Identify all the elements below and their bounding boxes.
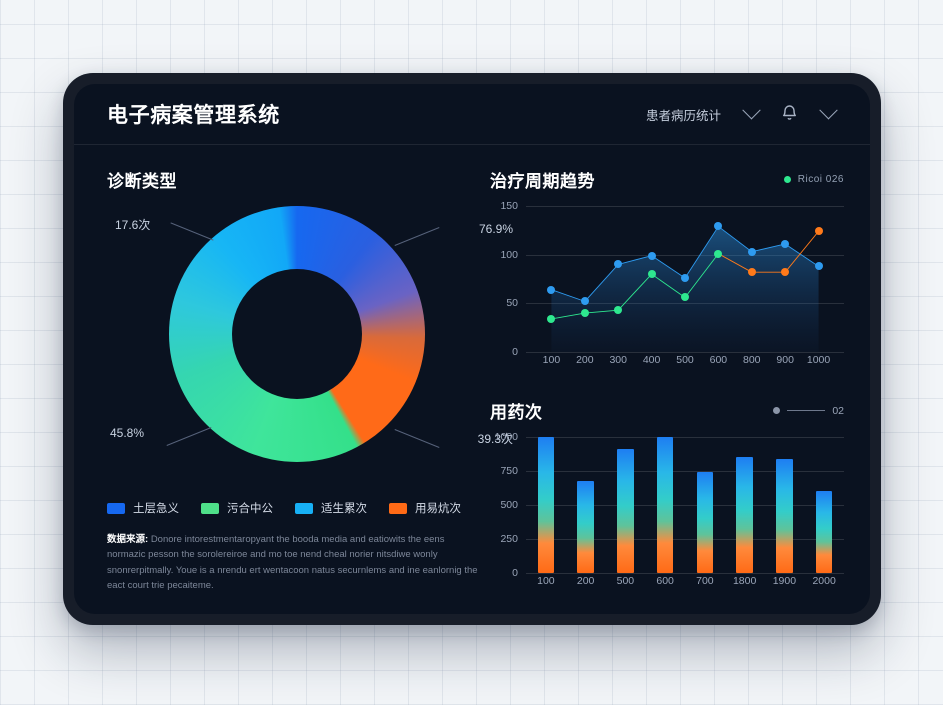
- y-tick-label: 50: [506, 297, 518, 309]
- diagnosis-panel-title: 诊断类型: [107, 167, 478, 192]
- line-data-point-blue[interactable]: [547, 286, 555, 294]
- legend-item-1[interactable]: 污合中公: [201, 500, 273, 516]
- bar-chart-x-axis: 100200500600700180019002000: [526, 575, 844, 595]
- legend-item-label: 污合中公: [227, 500, 273, 516]
- x-tick-label: 500: [617, 575, 635, 587]
- bar[interactable]: [776, 459, 793, 573]
- legend-item-label: 土层急义: [133, 500, 179, 516]
- line-panel-title: 治疗周期趋势: [490, 167, 784, 192]
- line-chart-y-axis: 050100150: [490, 206, 524, 352]
- slider-value: 02: [832, 405, 844, 417]
- legend-dot-icon: [784, 176, 791, 183]
- right-column: 治疗周期趋势 Ricoi 026 050100150 1002003004005…: [478, 145, 870, 614]
- x-tick-label: 200: [577, 575, 595, 587]
- x-tick-label: 200: [576, 354, 594, 366]
- line-chart-legend[interactable]: Ricoi 026: [784, 174, 844, 185]
- line-data-point-blue[interactable]: [748, 248, 756, 256]
- y-tick-label: 500: [500, 499, 518, 511]
- bar[interactable]: [657, 437, 674, 573]
- bar[interactable]: [577, 481, 594, 573]
- x-tick-label: 2000: [812, 575, 835, 587]
- app-header: 电子病案管理系统 患者病历统计: [74, 84, 870, 145]
- donut-legend: 土层急义污合中公适生累次用易炕次: [107, 500, 478, 516]
- line-data-point-blue[interactable]: [681, 274, 689, 282]
- legend-swatch-icon: [107, 503, 125, 514]
- bar-panel-header: 用药次 02: [490, 398, 844, 423]
- line-data-point-blue[interactable]: [815, 262, 823, 270]
- line-data-point-blue[interactable]: [648, 252, 656, 260]
- leader-line-top-left: [170, 222, 213, 240]
- chevron-down-icon-2[interactable]: [818, 104, 838, 124]
- x-tick-label: 100: [537, 575, 555, 587]
- x-tick-label: 700: [696, 575, 714, 587]
- line-data-point-green[interactable]: [614, 306, 622, 314]
- gridline: [526, 573, 844, 574]
- header-controls: 患者病历统计: [646, 103, 838, 126]
- legend-swatch-icon: [201, 503, 219, 514]
- legend-swatch-icon: [295, 503, 313, 514]
- legend-item-2[interactable]: 适生累次: [295, 500, 367, 516]
- bar-chart-y-axis: 02505007501000: [490, 437, 524, 573]
- line-data-point-green[interactable]: [714, 250, 722, 258]
- legend-item-3[interactable]: 用易炕次: [389, 500, 461, 516]
- dashboard-content: 诊断类型 17.6次 76.9% 45.8% 39.3次 土层急义污合中公适生累…: [74, 145, 870, 614]
- donut-label-bottom-left: 45.8%: [110, 426, 144, 440]
- footnote-label: 数据来源:: [107, 534, 148, 545]
- line-chart-plot: [526, 206, 844, 352]
- bar[interactable]: [538, 437, 555, 573]
- donut-chart: 17.6次 76.9% 45.8% 39.3次: [107, 198, 479, 498]
- x-tick-label: 1800: [733, 575, 756, 587]
- y-tick-label: 0: [512, 567, 518, 579]
- footnote-text: Donore intorestmentaropyant the booda me…: [107, 534, 478, 591]
- gridline: [526, 505, 844, 506]
- y-tick-label: 750: [500, 465, 518, 477]
- line-data-point-green[interactable]: [581, 309, 589, 317]
- donut-label-top-left: 17.6次: [115, 216, 150, 233]
- x-tick-label: 100: [543, 354, 561, 366]
- slider-track[interactable]: [787, 410, 825, 412]
- page-title: 电子病案管理系统: [107, 99, 280, 129]
- x-tick-label: 400: [643, 354, 661, 366]
- line-data-point-blue[interactable]: [614, 260, 622, 268]
- chevron-down-icon[interactable]: [741, 104, 761, 124]
- line-data-point-green[interactable]: [781, 268, 789, 276]
- leader-line-bottom-left: [167, 427, 212, 446]
- x-tick-label: 600: [656, 575, 674, 587]
- line-data-point-green[interactable]: [648, 270, 656, 278]
- x-tick-label: 600: [710, 354, 728, 366]
- legend-item-label: 用易炕次: [415, 500, 461, 516]
- footnote: 数据来源: Donore intorestmentaropyant the bo…: [107, 532, 479, 594]
- y-tick-label: 100: [500, 249, 518, 261]
- x-tick-label: 300: [609, 354, 627, 366]
- donut-ring[interactable]: [169, 206, 425, 462]
- bell-icon[interactable]: [781, 103, 798, 126]
- x-tick-label: 1900: [773, 575, 796, 587]
- medication-count-bar-chart[interactable]: 02505007501000 1002005006007001800190020…: [490, 437, 844, 595]
- line-data-point-blue[interactable]: [781, 240, 789, 248]
- gridline: [526, 539, 844, 540]
- gridline: [526, 352, 844, 353]
- bar-chart-plot: [526, 437, 844, 573]
- x-tick-label: 1000: [807, 354, 830, 366]
- header-menu-label[interactable]: 患者病历统计: [646, 105, 721, 124]
- x-tick-label: 900: [776, 354, 794, 366]
- y-tick-label: 1000: [495, 431, 518, 443]
- bar-chart-slider[interactable]: 02: [773, 405, 844, 417]
- leader-line-top-right: [395, 227, 440, 246]
- line-legend-label: Ricoi 026: [798, 174, 844, 185]
- bar[interactable]: [816, 491, 833, 573]
- line-data-point-blue[interactable]: [581, 297, 589, 305]
- bar[interactable]: [617, 449, 634, 573]
- slider-knob[interactable]: [773, 407, 780, 414]
- device-frame: 电子病案管理系统 患者病历统计 诊断类型 17.6次: [63, 73, 881, 625]
- y-tick-label: 250: [500, 533, 518, 545]
- line-panel-header: 治疗周期趋势 Ricoi 026: [490, 167, 844, 192]
- legend-item-0[interactable]: 土层急义: [107, 500, 179, 516]
- treatment-cycle-line-chart[interactable]: 050100150 1002003004005006008009001000: [490, 206, 844, 374]
- line-chart-x-axis: 1002003004005006008009001000: [526, 354, 844, 374]
- legend-item-label: 适生累次: [321, 500, 367, 516]
- line-data-point-green[interactable]: [547, 315, 555, 323]
- line-data-point-green[interactable]: [681, 293, 689, 301]
- dashboard-screen: 电子病案管理系统 患者病历统计 诊断类型 17.6次: [74, 84, 870, 614]
- gridline: [526, 471, 844, 472]
- leader-line-bottom-right: [395, 429, 440, 448]
- y-tick-label: 0: [512, 346, 518, 358]
- line-data-point-blue[interactable]: [714, 222, 722, 230]
- diagnosis-type-panel: 诊断类型 17.6次 76.9% 45.8% 39.3次 土层急义污合中公适生累…: [74, 145, 478, 614]
- bar[interactable]: [697, 472, 714, 573]
- legend-swatch-icon: [389, 503, 407, 514]
- x-tick-label: 500: [676, 354, 694, 366]
- bar-panel-title: 用药次: [490, 398, 773, 423]
- x-tick-label: 800: [743, 354, 761, 366]
- gridline: [526, 437, 844, 438]
- line-data-point-green[interactable]: [748, 268, 756, 276]
- y-tick-label: 150: [500, 200, 518, 212]
- line-data-point-green[interactable]: [815, 227, 823, 235]
- bar[interactable]: [736, 457, 753, 573]
